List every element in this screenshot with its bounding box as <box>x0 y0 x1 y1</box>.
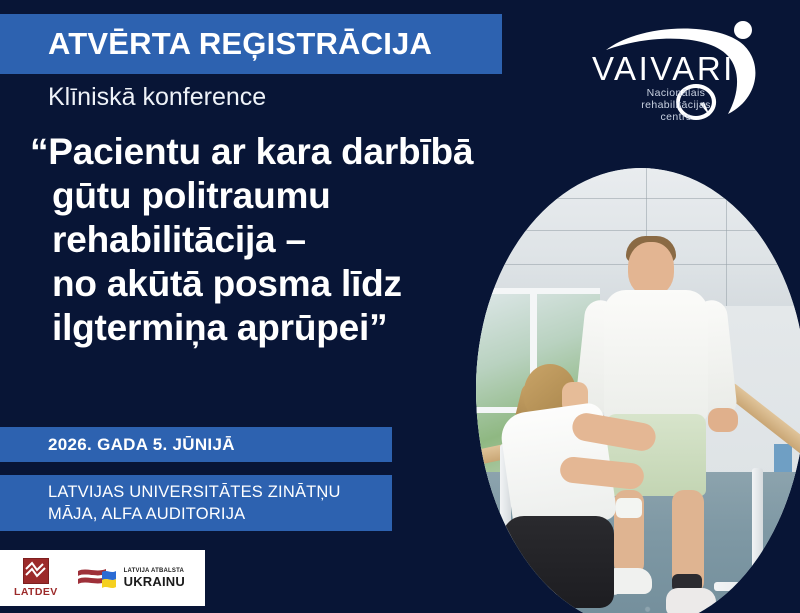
patient-head <box>628 242 674 296</box>
title-line-1: “Pacientu ar kara darbībā <box>30 130 510 174</box>
conference-subtitle: Klīniskā konference <box>48 83 266 112</box>
date-banner-label: 2026. GADA 5. JŪNIJĀ <box>0 435 235 455</box>
conference-poster: VAIVARI Nacionālais rehabilitācijas cent… <box>0 0 800 613</box>
ukraine-flag-yellow <box>102 579 116 588</box>
latvia-ukraine-flags-icon <box>76 563 120 593</box>
ceiling-line <box>476 198 800 199</box>
parallel-bar-base <box>714 582 800 591</box>
title-line-2: gūtu politraumu <box>30 174 510 218</box>
therapist-legs <box>502 516 614 608</box>
photo-scene <box>476 168 800 613</box>
venue-banner: LATVIJAS UNIVERSITĀTES ZINĀTŅU MĀJA, ALF… <box>0 475 392 531</box>
registration-banner: ATVĒRTA REĢISTRĀCIJA <box>0 14 502 74</box>
ukraine-support-logo: LATVIJA ATBALSTA UKRAINU <box>76 563 185 593</box>
logo-tagline-line1: Nacionālais <box>647 87 706 99</box>
ukraine-support-big-text: UKRAINU <box>124 575 185 588</box>
parallel-bar-post <box>752 468 763 598</box>
patient-hand-right <box>708 408 738 432</box>
latdev-logo: LATDEV <box>14 558 58 598</box>
venue-line-1: LATVIJAS UNIVERSITĀTES ZINĀTŅU <box>48 481 341 503</box>
date-banner: 2026. GADA 5. JŪNIJĀ <box>0 427 392 462</box>
registration-banner-label: ATVĒRTA REĢISTRĀCIJA <box>0 26 432 62</box>
rehabilitation-photo <box>476 168 800 613</box>
therapist-shoe <box>506 598 566 613</box>
ceiling-line <box>726 168 727 324</box>
vaivari-logo: VAIVARI Nacionālais rehabilitācijas cent… <box>588 16 778 128</box>
venue-line-2: MĀJA, ALFA AUDITORIJA <box>48 503 341 525</box>
logo-dot <box>734 21 752 39</box>
logo-tagline-line2: rehabilitācijas <box>641 99 711 111</box>
title-line-5: ilgtermiņa aprūpei” <box>30 306 510 350</box>
title-line-3: rehabilitācija – <box>30 218 510 262</box>
conference-title: “Pacientu ar kara darbībā gūtu politraum… <box>30 130 510 350</box>
latdev-wordmark: LATDEV <box>14 586 58 598</box>
patient-torso <box>604 290 708 422</box>
ukraine-support-text: LATVIJA ATBALSTA UKRAINU <box>124 568 185 588</box>
ceiling-line <box>476 230 800 231</box>
ukraine-flag-blue <box>102 571 116 580</box>
patient-shoe-right <box>666 588 716 613</box>
title-line-4: no akūtā posma līdz <box>30 262 510 306</box>
logo-tagline-line3: centrs <box>661 111 692 123</box>
patient-knee-bandage <box>616 498 642 518</box>
latdev-mark-icon <box>23 558 49 584</box>
venue-banner-text: LATVIJAS UNIVERSITĀTES ZINĀTŅU MĀJA, ALF… <box>0 481 341 526</box>
logo-wordmark: VAIVARI <box>592 50 735 87</box>
sponsor-logo-bar: LATDEV LATVIJA ATBALSTA UKRAINU <box>0 550 205 606</box>
